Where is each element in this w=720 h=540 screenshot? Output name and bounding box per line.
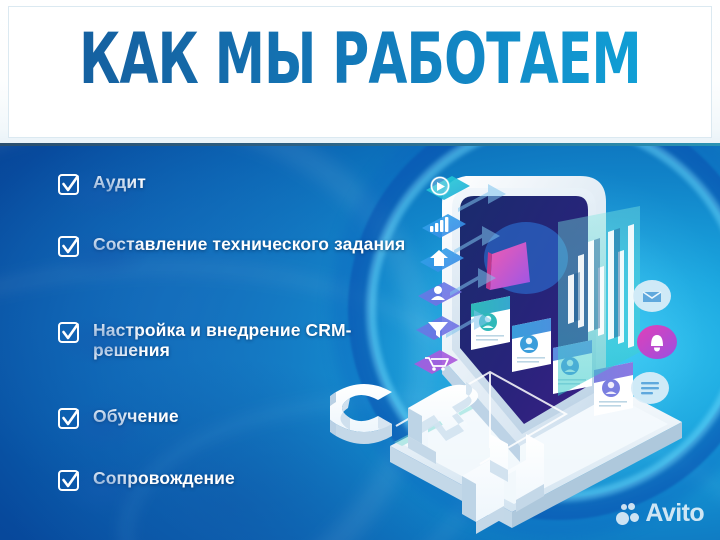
checkbox-checked-icon[interactable] <box>58 322 79 343</box>
bell-icon <box>637 325 677 359</box>
list-item[interactable]: Обучение <box>58 406 179 429</box>
letter-C <box>330 384 392 444</box>
list-item-label: Сопровождение <box>93 468 235 488</box>
checkbox-checked-icon[interactable] <box>58 470 79 491</box>
list-item[interactable]: Сопровождение <box>58 468 235 491</box>
right-icon-chips <box>631 280 677 404</box>
checkbox-checked-icon[interactable] <box>58 174 79 195</box>
page-title: КАК МЫ РАБОТАЕМ <box>72 24 648 94</box>
header-banner: КАК МЫ РАБОТАЕМ <box>0 0 720 146</box>
list-item[interactable]: Аудит <box>58 172 146 195</box>
list-icon <box>631 372 669 404</box>
checkbox-checked-icon[interactable] <box>58 236 79 257</box>
list-item[interactable]: Составление технического задания <box>58 234 405 257</box>
avito-brand-text: Avito <box>645 501 704 526</box>
content-area: Аудит Составление технического задания Н… <box>0 146 720 540</box>
list-item-label: Составление технического задания <box>93 234 405 254</box>
list-item[interactable]: Настройка и внедрение CRM-решения <box>58 320 413 360</box>
mail-icon <box>633 280 671 312</box>
checkbox-checked-icon[interactable] <box>58 408 79 429</box>
list-item-label: Обучение <box>93 406 179 426</box>
avito-watermark: Avito <box>616 501 704 526</box>
list-item-label: Настройка и внедрение CRM-решения <box>93 320 413 360</box>
avito-dots-logo <box>616 503 638 525</box>
list-item-label: Аудит <box>93 172 146 192</box>
user-card <box>512 318 551 372</box>
